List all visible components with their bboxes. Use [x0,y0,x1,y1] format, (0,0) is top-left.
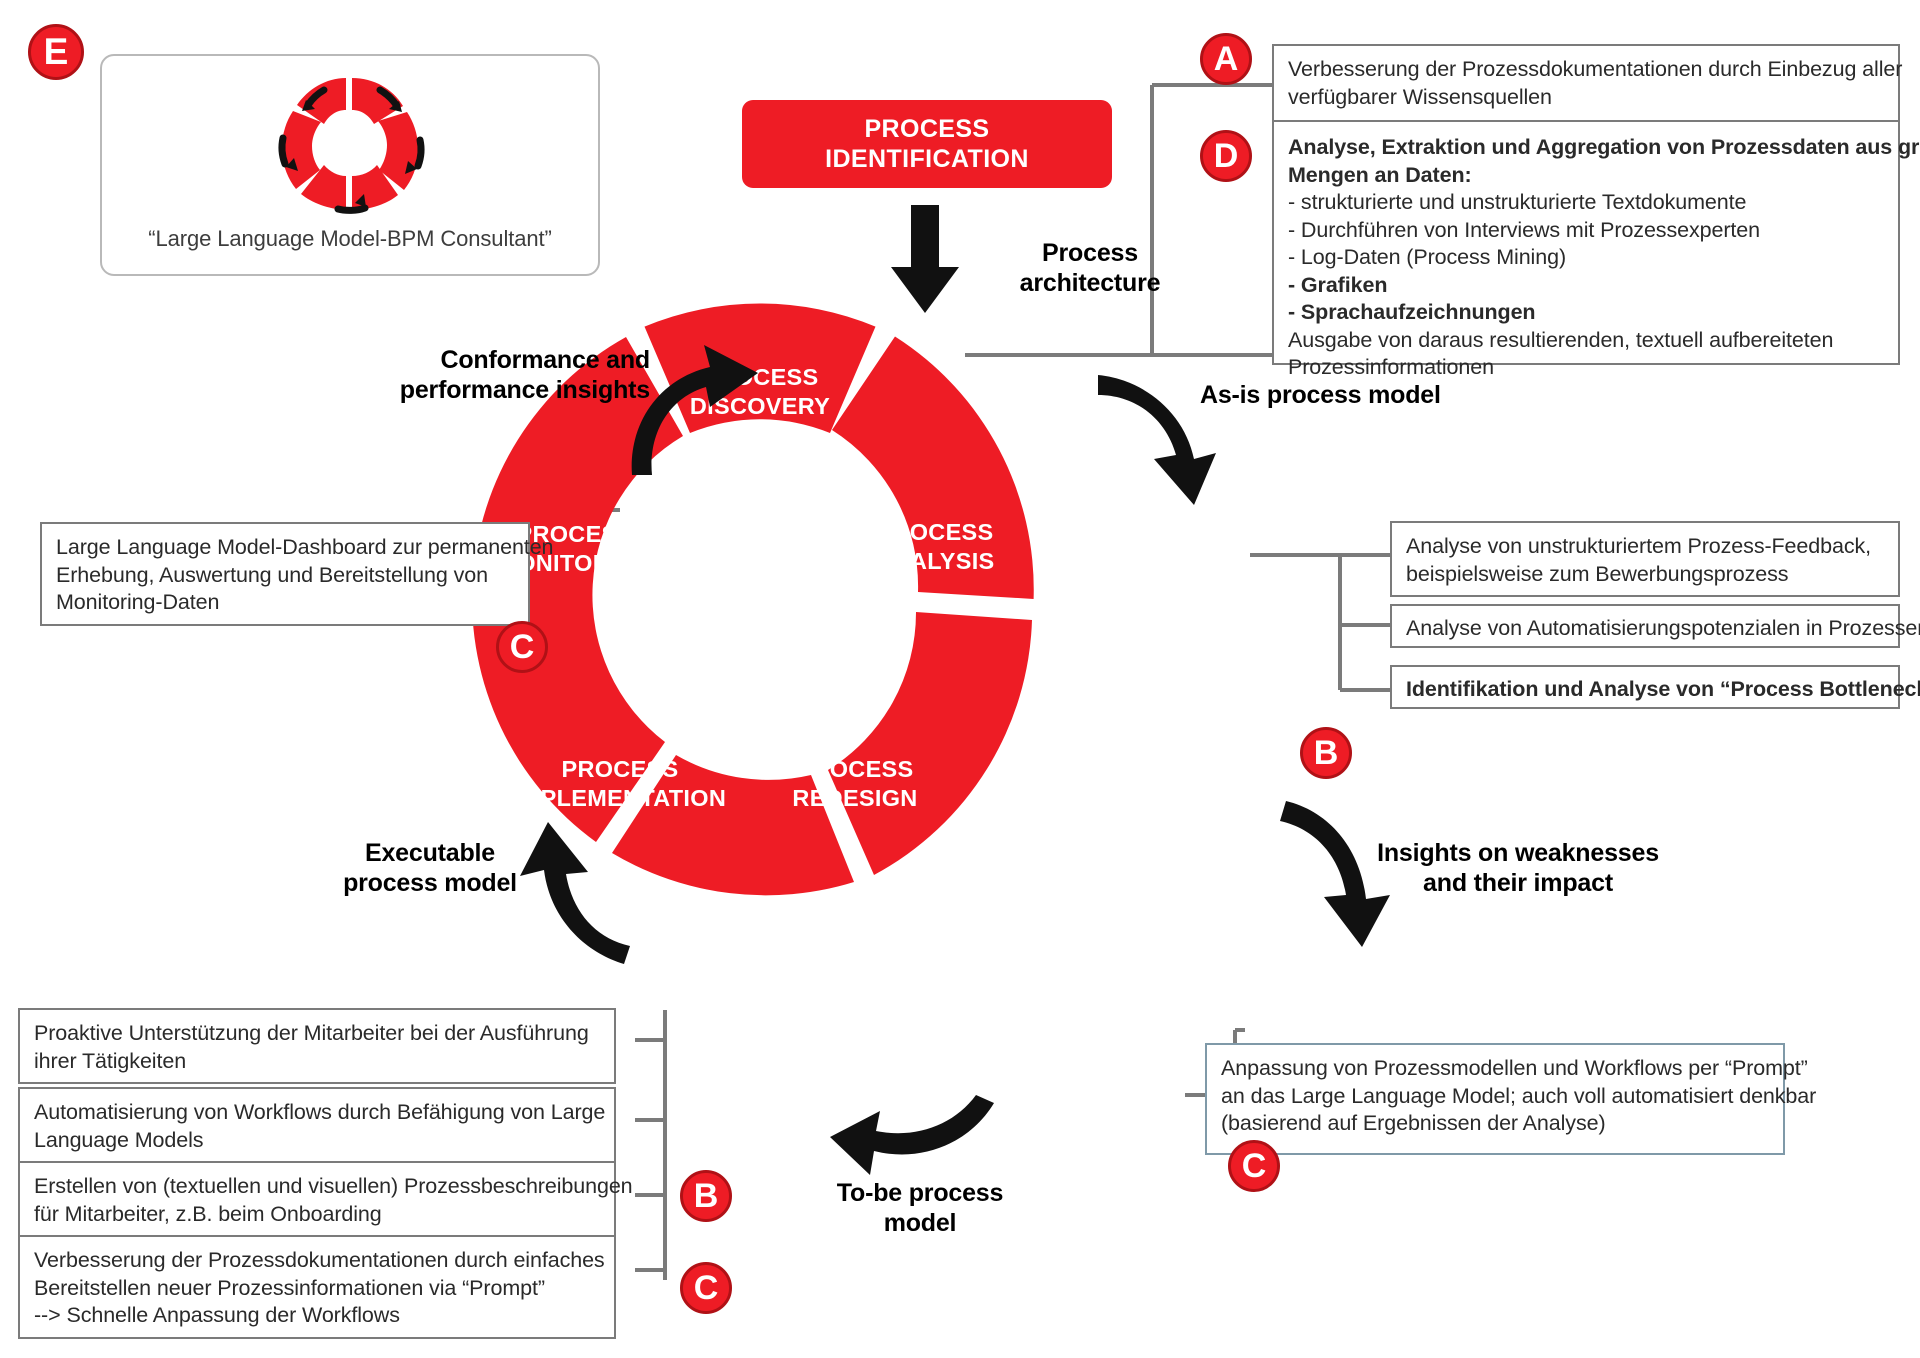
note-impl-docs-line-1: Bereitstellen neuer Prozessinformationen… [34,1275,600,1303]
note-d-line-3: - Durchführen von Interviews mit Prozess… [1288,217,1884,245]
note-a: Verbesserung der Prozessdokumentationen … [1272,44,1900,122]
note-monitoring-line-1: Erhebung, Auswertung und Bereitstellung … [56,562,514,590]
note-impl-docs: Verbesserung der Prozessdokumentationen … [18,1235,616,1339]
badge-d: D [1200,130,1252,182]
note-analysis-feedback-line-1: beispielsweise zum Bewerbungsprozess [1406,561,1884,589]
note-impl-automation-line-0: Automatisierung von Workflows durch Befä… [34,1099,600,1127]
label-to-be-l2: model [884,1209,957,1237]
note-analysis-automation-line-0: Analyse von Automatisierungspotenzialen … [1406,615,1884,643]
note-impl-descriptions: Erstellen von (textuellen und visuellen)… [18,1161,616,1237]
badge-impl-b: B [680,1170,732,1222]
note-impl-automation: Automatisierung von Workflows durch Befä… [18,1087,616,1163]
note-a-line-0: Verbesserung der Prozessdokumentationen … [1288,56,1884,84]
note-d-line-8: Prozessinformationen [1288,354,1884,382]
note-impl-docs-line-2: --> Schnelle Anpassung der Workflows [34,1302,600,1330]
note-monitoring-line-2: Monitoring-Daten [56,589,514,617]
process-identification-line2: IDENTIFICATION [825,144,1029,175]
note-redesign-line-0: Anpassung von Prozessmodellen und Workfl… [1221,1055,1769,1083]
process-identification-box: PROCESS IDENTIFICATION [742,100,1112,188]
note-impl-descriptions-line-0: Erstellen von (textuellen und visuellen)… [34,1173,600,1201]
note-impl-proactive: Proaktive Unterstützung der Mitarbeiter … [18,1008,616,1084]
note-d: Analyse, Extraktion und Aggregation von … [1272,120,1900,365]
note-impl-docs-line-0: Verbesserung der Prozessdokumentationen … [34,1247,600,1275]
badge-analysis-b: B [1300,727,1352,779]
label-executable-l2: process model [343,869,517,897]
note-analysis-feedback-line-0: Analyse von unstrukturiertem Prozess-Fee… [1406,533,1884,561]
arrow-as-is-icon [1090,355,1240,505]
label-insights-l2: and their impact [1423,869,1613,897]
note-analysis-bottlenecks: Identifikation und Analyse von “Process … [1390,665,1900,709]
label-conformance-l2: performance insights [400,376,650,404]
label-as-is-l1: As-is process model [1200,381,1441,409]
note-d-line-1: Mengen an Daten: [1288,162,1884,190]
note-analysis-feedback: Analyse von unstrukturiertem Prozess-Fee… [1390,521,1900,597]
note-analysis-bottlenecks-line-0: Identifikation und Analyse von “Process … [1406,676,1884,704]
note-monitoring-line-0: Large Language Model-Dashboard zur perma… [56,534,514,562]
note-redesign-prompt: Anpassung von Prozessmodellen und Workfl… [1205,1043,1785,1155]
badge-monitoring-c: C [496,621,548,673]
note-d-line-0: Analyse, Extraktion und Aggregation von … [1288,134,1884,162]
note-d-line-6: - Sprachaufzeichnungen [1288,299,1884,327]
legend-card: “Large Language Model-BPM Consultant” [100,54,600,276]
label-conformance-l1: Conformance and [440,346,650,374]
note-impl-automation-line-1: Language Models [34,1127,600,1155]
process-identification-line1: PROCESS [825,114,1029,145]
label-as-is-process-model: As-is process model [1200,380,1530,410]
note-a-line-1: verfügbarer Wissensquellen [1288,84,1884,112]
note-impl-descriptions-line-1: für Mitarbeiter, z.B. beim Onboarding [34,1201,600,1229]
note-redesign-line-1: an das Large Language Model; auch voll a… [1221,1083,1769,1111]
segment-process-redesign [828,612,1032,875]
bpm-lifecycle-wheel-icon [262,64,442,214]
note-d-line-2: - strukturierte und unstrukturierte Text… [1288,189,1884,217]
label-executable-process-model: Executable process model [300,838,560,898]
segment-process-analysis [832,337,1034,600]
note-monitoring-dashboard: Large Language Model-Dashboard zur perma… [40,522,530,626]
badge-impl-c: C [680,1262,732,1314]
note-impl-proactive-line-0: Proaktive Unterstützung der Mitarbeiter … [34,1020,600,1048]
label-conformance-and-performance: Conformance and performance insights [330,345,650,405]
note-d-line-7: Ausgabe von daraus resultierenden, textu… [1288,327,1884,355]
label-to-be-process-model: To-be process model [790,1178,1050,1238]
label-executable-l1: Executable [365,839,495,867]
note-d-line-4: - Log-Daten (Process Mining) [1288,244,1884,272]
legend-caption: “Large Language Model-BPM Consultant” [102,226,598,252]
note-d-line-5: - Grafiken [1288,272,1884,300]
note-analysis-automation: Analyse von Automatisierungspotenzialen … [1390,604,1900,648]
segment-process-implementation [612,755,854,895]
badge-a: A [1200,33,1252,85]
label-to-be-l1: To-be process [837,1179,1003,1207]
note-redesign-line-2: (basierend auf Ergebnissen der Analyse) [1221,1110,1769,1138]
note-impl-proactive-line-1: ihrer Tätigkeiten [34,1048,600,1076]
badge-e: E [28,24,84,80]
badge-redesign-c: C [1228,1140,1280,1192]
label-insights-on-weaknesses: Insights on weaknesses and their impact [1348,838,1688,898]
label-process-architecture-l1: Process [1042,239,1138,267]
diagram-canvas: E [0,0,1920,1358]
label-insights-l1: Insights on weaknesses [1377,839,1659,867]
